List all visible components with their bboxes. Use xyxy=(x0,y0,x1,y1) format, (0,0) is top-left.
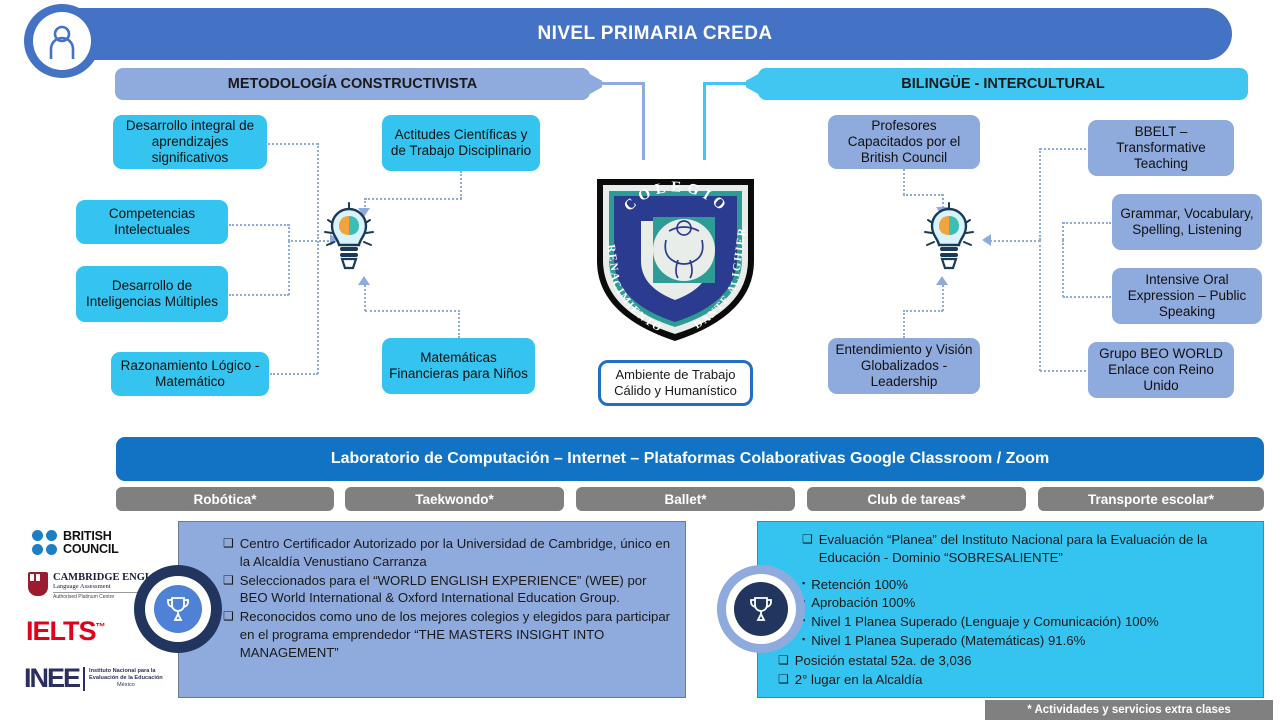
british-council-dots-icon xyxy=(32,530,57,555)
node-right-6[interactable]: Grupo BEO WORLD Enlace con Reino Unido xyxy=(1088,342,1234,398)
achievements-panel-left: ❑ Centro Certificador Autorizado por la … xyxy=(178,521,686,698)
wire-l1-v xyxy=(317,143,319,239)
trophy-icon xyxy=(165,595,191,623)
ambiente-trabajo-box[interactable]: Ambiente de Trabajo Cálido y Humanístico xyxy=(598,360,753,406)
arrow-into-right-bulb xyxy=(982,234,991,246)
chip-taekwondo[interactable]: Taekwondo* xyxy=(345,487,564,511)
list-item: ❑ Seleccionados para el “WORLD ENGLISH E… xyxy=(223,572,673,608)
list-item: ❑ Posición estatal 52a. de 3,036 xyxy=(778,652,1253,670)
wire-l6-v xyxy=(458,310,460,338)
chip-transporte-escolar[interactable]: Transporte escolar* xyxy=(1038,487,1264,511)
inee-logo: INEE Instituto Nacional para la Evaluaci… xyxy=(24,663,163,694)
wire-r1-h xyxy=(903,194,943,196)
wire-l5-v xyxy=(460,171,462,199)
list-item: ▪ Aprobación 100% xyxy=(802,594,1253,612)
banner-metodologia: METODOLOGÍA CONSTRUCTIVISTA xyxy=(115,68,590,100)
bullet-icon: ▪ xyxy=(802,576,805,594)
wire-l4-v xyxy=(317,241,319,374)
cambridge-shield-icon xyxy=(28,572,48,596)
banner-bilingue: BILINGÜE - INTERCULTURAL xyxy=(758,68,1248,100)
wire-l5-h xyxy=(365,198,462,200)
list-item: ▪ Retención 100% xyxy=(802,576,1253,594)
wire-r5-h xyxy=(1063,296,1111,298)
wire-r2-v xyxy=(903,310,905,338)
wire-r1-v xyxy=(903,169,905,195)
banner-metodologia-label: METODOLOGÍA CONSTRUCTIVISTA xyxy=(228,76,477,92)
chip-ballet[interactable]: Ballet* xyxy=(576,487,795,511)
connector-metodologia-to-logo xyxy=(600,82,648,164)
node-right-4[interactable]: Grammar, Vocabulary, Spelling, Listening xyxy=(1112,194,1262,250)
lightbulb-brain-icon-left xyxy=(322,200,376,282)
node-right-1[interactable]: Profesores Capacitados por el British Co… xyxy=(828,115,980,169)
wire-r3-h xyxy=(1040,148,1086,150)
chip-robotica[interactable]: Robótica* xyxy=(116,487,334,511)
person-badge xyxy=(24,4,100,78)
list-item: ▪ Nivel 1 Planea Superado (Lenguaje y Co… xyxy=(802,613,1253,631)
wire-r6-h xyxy=(1040,370,1086,372)
wire-r6-v xyxy=(1039,240,1041,371)
wire-l3-h xyxy=(229,294,289,296)
checkbox-icon: ❑ xyxy=(802,531,813,567)
lab-bar: Laboratorio de Computación – Internet – … xyxy=(116,437,1264,481)
node-right-2[interactable]: Entendimiento y Visión Globalizados - Le… xyxy=(828,338,980,394)
inee-divider xyxy=(83,667,85,691)
wire-l2-v xyxy=(288,224,290,241)
infographic-canvas: NIVEL PRIMARIA CREDA METODOLOGÍA CONSTRU… xyxy=(0,0,1280,720)
node-left-1[interactable]: Desarrollo integral de aprendizajes sign… xyxy=(113,115,267,169)
footnote-extra-activities: * Actividades y servicios extra clases xyxy=(985,700,1273,720)
checkbox-icon: ❑ xyxy=(223,572,234,608)
wire-r2-v2 xyxy=(942,285,944,311)
list-item: ❑ Reconocidos como uno de los mejores co… xyxy=(223,608,673,661)
list-item: ❑ 2° lugar en la Alcaldía xyxy=(778,671,1253,689)
page-title: NIVEL PRIMARIA CREDA xyxy=(538,23,773,45)
node-left-4[interactable]: Razonamiento Lógico - Matemático xyxy=(111,352,269,396)
wire-r4-v xyxy=(1062,222,1064,240)
checkbox-icon: ❑ xyxy=(223,535,234,571)
trophy-medal-left xyxy=(134,565,222,653)
list-item: ❑ Centro Certificador Autorizado por la … xyxy=(223,535,673,571)
wire-l6-h xyxy=(365,310,460,312)
wire-r4-h xyxy=(1063,222,1111,224)
node-left-5[interactable]: Actitudes Científicas y de Trabajo Disci… xyxy=(382,115,540,171)
node-left-2[interactable]: Competencias Intelectuales xyxy=(76,200,228,244)
banner-bilingue-label: BILINGÜE - INTERCULTURAL xyxy=(901,76,1105,92)
person-icon xyxy=(33,12,91,70)
list-item: ▪ Nivel 1 Planea Superado (Matemáticas) … xyxy=(802,632,1253,650)
checkbox-icon: ❑ xyxy=(778,652,789,670)
connector-bilingue-to-logo xyxy=(703,82,751,164)
checkbox-icon: ❑ xyxy=(778,671,789,689)
trophy-medal-right xyxy=(717,565,805,653)
wire-r2-h xyxy=(903,310,943,312)
wire-l3-v xyxy=(288,241,290,295)
wire-l1-h xyxy=(268,143,318,145)
wire-r5-v xyxy=(1062,240,1064,297)
page-title-bar: NIVEL PRIMARIA CREDA xyxy=(38,8,1232,60)
node-left-6[interactable]: Matemáticas Financieras para Niños xyxy=(382,338,535,394)
achievements-panel-right: ❑ Evaluación “Planea” del Instituto Naci… xyxy=(757,521,1264,698)
node-right-3[interactable]: BBELT – Transformative Teaching xyxy=(1088,120,1234,176)
ielts-logo: IELTS™ xyxy=(26,616,105,647)
checkbox-icon: ❑ xyxy=(223,608,234,661)
lab-bar-label: Laboratorio de Computación – Internet – … xyxy=(331,450,1049,468)
bullet-icon: ▪ xyxy=(802,632,805,650)
list-item: ❑ Evaluación “Planea” del Instituto Naci… xyxy=(802,531,1253,567)
wire-r3-v xyxy=(1039,148,1041,240)
wire-l2-h xyxy=(229,224,289,226)
trophy-icon xyxy=(748,595,774,623)
node-right-5[interactable]: Intensive Oral Expression – Public Speak… xyxy=(1112,268,1262,324)
lightbulb-brain-icon-right xyxy=(922,200,976,282)
wire-rbulb-h xyxy=(990,240,1040,242)
wire-l4-h xyxy=(270,373,318,375)
node-left-3[interactable]: Desarrollo de Inteligencias Múltiples xyxy=(76,266,228,322)
wire-l6-v2 xyxy=(364,285,366,311)
chip-club-tareas[interactable]: Club de tareas* xyxy=(807,487,1026,511)
british-council-logo: BRITISH COUNCIL xyxy=(32,530,119,555)
school-crest-logo: COLEGIO RENACIMIENTO DANTE ALIGHIERI xyxy=(583,165,768,345)
